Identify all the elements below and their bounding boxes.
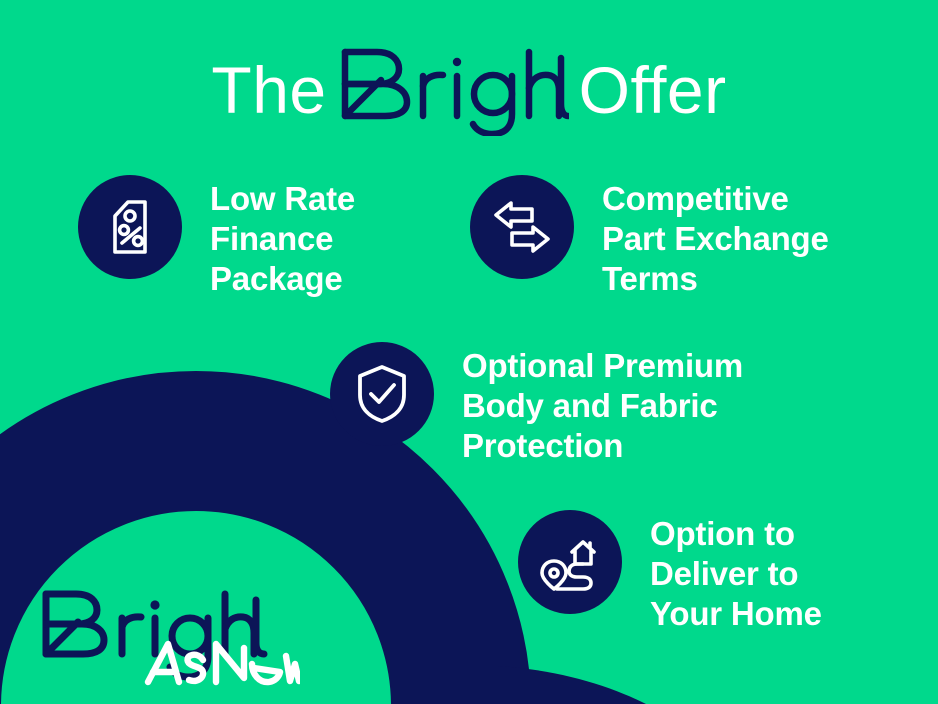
offer-line: Option to — [650, 514, 822, 554]
offer-line: Body and Fabric — [462, 386, 743, 426]
navy-wedge-shape — [498, 666, 646, 704]
offer-line: Part Exchange — [602, 219, 829, 259]
offer-line: Optional Premium — [462, 346, 743, 386]
offer-line: Competitive — [602, 179, 829, 219]
price-tag-percent-icon — [102, 197, 158, 257]
brand-logo-bright-as-new — [38, 578, 300, 686]
brand-logo-secondary-wordmark — [148, 644, 299, 682]
offer-text-finance: Low Rate Finance Package — [210, 175, 355, 299]
brand-logo-i-dot — [150, 600, 159, 609]
offer-line: Deliver to — [650, 554, 822, 594]
offer-item-delivery: Option to Deliver to Your Home — [518, 510, 822, 634]
offer-text-delivery: Option to Deliver to Your Home — [650, 510, 822, 634]
offer-line: Package — [210, 259, 355, 299]
offer-icon-badge-protection — [330, 342, 434, 446]
shield-check-icon — [353, 363, 411, 425]
offer-icon-badge-exchange — [470, 175, 574, 279]
delivery-route-home-icon — [539, 532, 601, 592]
offer-line: Low Rate — [210, 179, 355, 219]
page-title-prefix: The — [211, 57, 326, 123]
offer-icon-badge-finance — [78, 175, 182, 279]
exchange-arrows-icon — [491, 197, 553, 257]
offer-item-exchange: Competitive Part Exchange Terms — [470, 175, 829, 299]
offer-item-finance: Low Rate Finance Package — [78, 175, 355, 299]
offer-item-protection: Optional Premium Body and Fabric Protect… — [330, 342, 743, 466]
bright-wordmark-title — [337, 44, 569, 136]
offer-line: Terms — [602, 259, 829, 299]
offer-text-exchange: Competitive Part Exchange Terms — [602, 175, 829, 299]
offer-line: Protection — [462, 426, 743, 466]
page-title-suffix: Offer — [579, 57, 727, 123]
bright-offer-poster: The — [0, 0, 938, 704]
offer-line: Finance — [210, 219, 355, 259]
offer-line: Your Home — [650, 594, 822, 634]
offer-icon-badge-delivery — [518, 510, 622, 614]
offer-text-protection: Optional Premium Body and Fabric Protect… — [462, 342, 743, 466]
page-title: The — [0, 44, 938, 136]
